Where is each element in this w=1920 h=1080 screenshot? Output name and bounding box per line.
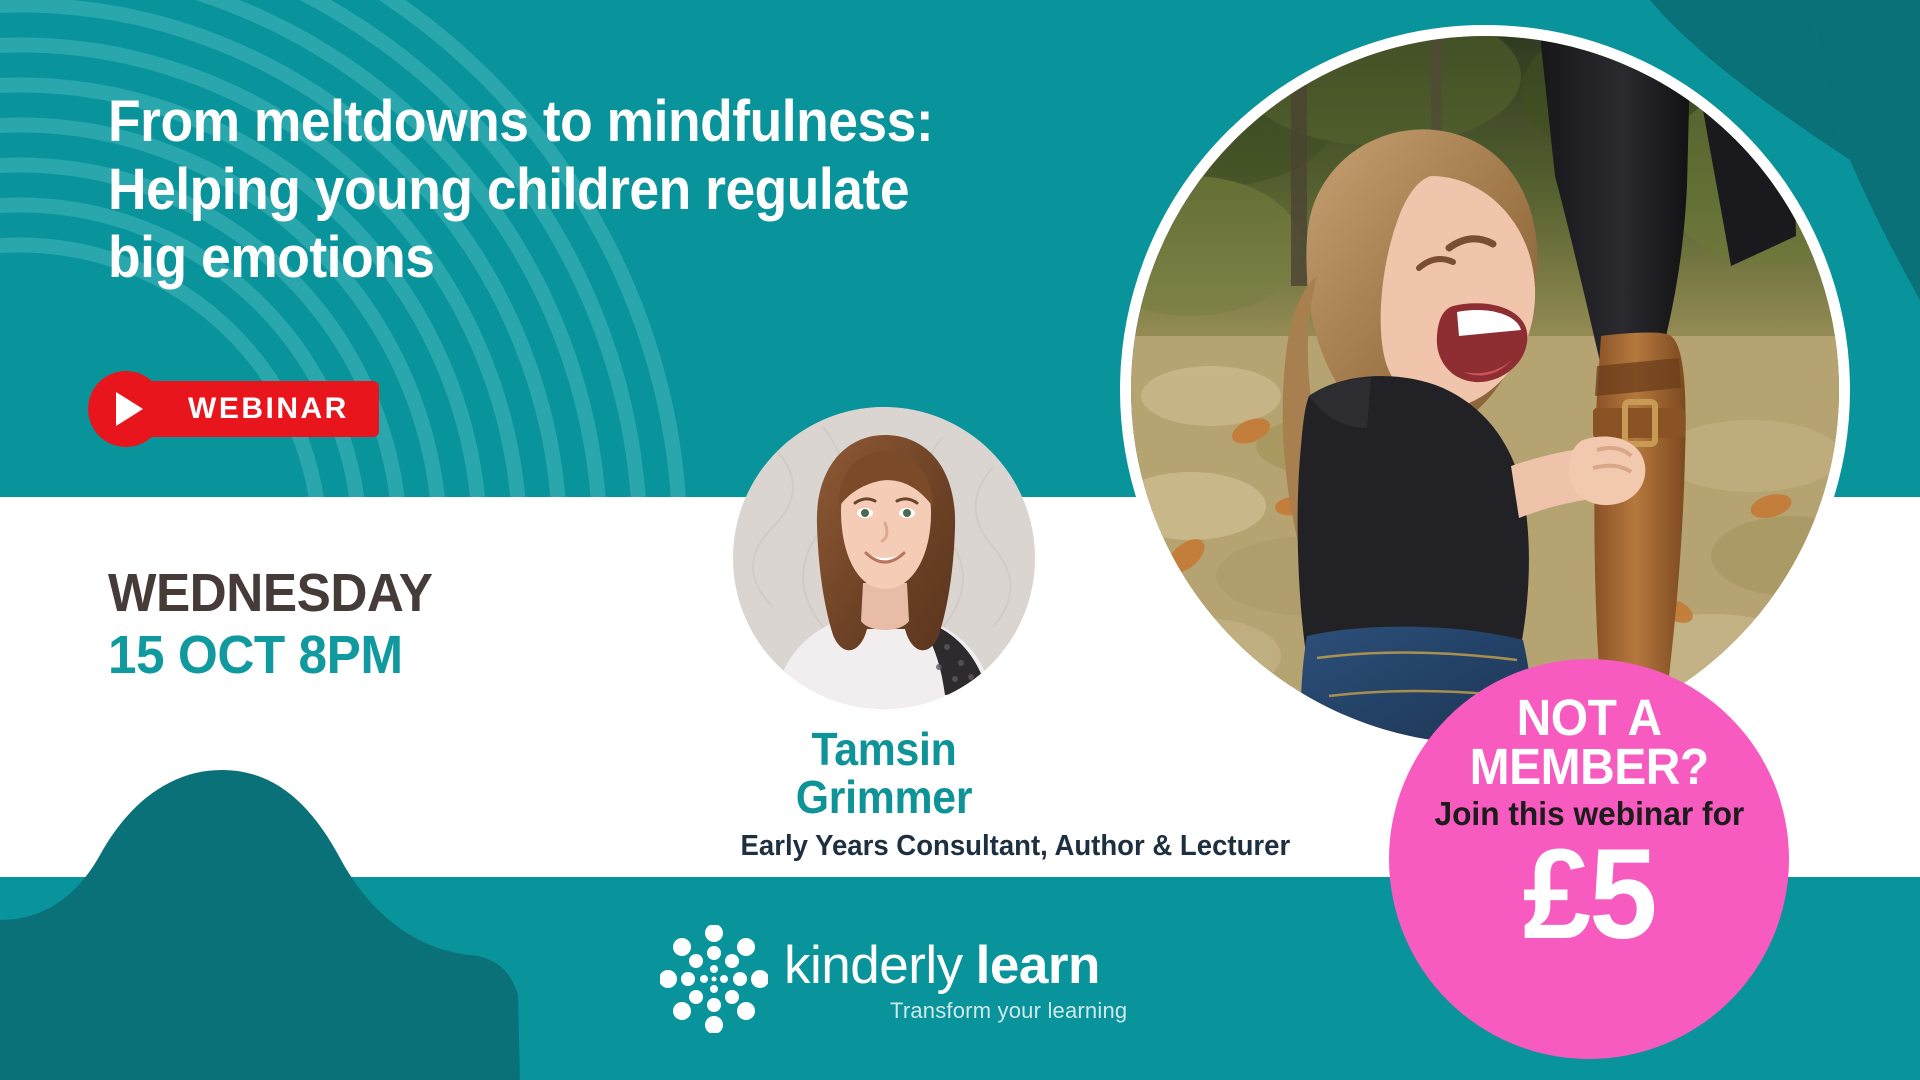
speaker-avatar [733,407,1035,709]
offer-line-2: MEMBER? [1469,742,1708,791]
event-date: WEDNESDAY 15 OCT 8PM [108,566,450,683]
offer-price: £5 [1523,834,1656,956]
play-triangle-icon [116,392,143,426]
speaker-block: Tamsin Grimmer Early Years Consultant, A… [733,407,1035,863]
webinar-badge[interactable]: WEBINAR [88,371,379,447]
hero-photo [1120,25,1850,755]
page-title: From meltdowns to mindfulness: Helping y… [108,88,1028,292]
speaker-role: Early Years Consultant, Author & Lecture… [741,830,1028,863]
title-line-1: From meltdowns to mindfulness: [108,88,1028,156]
promo-canvas: From meltdowns to mindfulness: Helping y… [0,0,1920,1080]
logo-name-bold: learn [976,935,1100,996]
offer-line-1: NOT A [1516,693,1661,742]
webinar-label-bar: WEBINAR [142,381,379,437]
membership-offer-badge[interactable]: NOT A MEMBER? Join this webinar for £5 [1389,659,1789,1059]
logo-tagline: Transform your learning [890,998,1127,1024]
title-line-2: Helping young children regulate [108,156,1028,224]
brand-logo[interactable]: kinderly learn Transform your learning [660,925,1127,1033]
logo-name-light: kinderly [784,935,963,996]
play-icon[interactable] [88,371,164,447]
dot-cluster-logo-icon [660,925,768,1033]
speaker-name: Tamsin Grimmer [744,725,1025,822]
event-datetime: 15 OCT 8PM [108,628,432,684]
event-day: WEDNESDAY [108,566,432,622]
logo-wordmark: kinderly learn [784,935,1127,996]
webinar-label: WEBINAR [188,392,349,426]
logo-text-block: kinderly learn Transform your learning [784,935,1127,1024]
title-line-3: big emotions [108,224,1028,292]
